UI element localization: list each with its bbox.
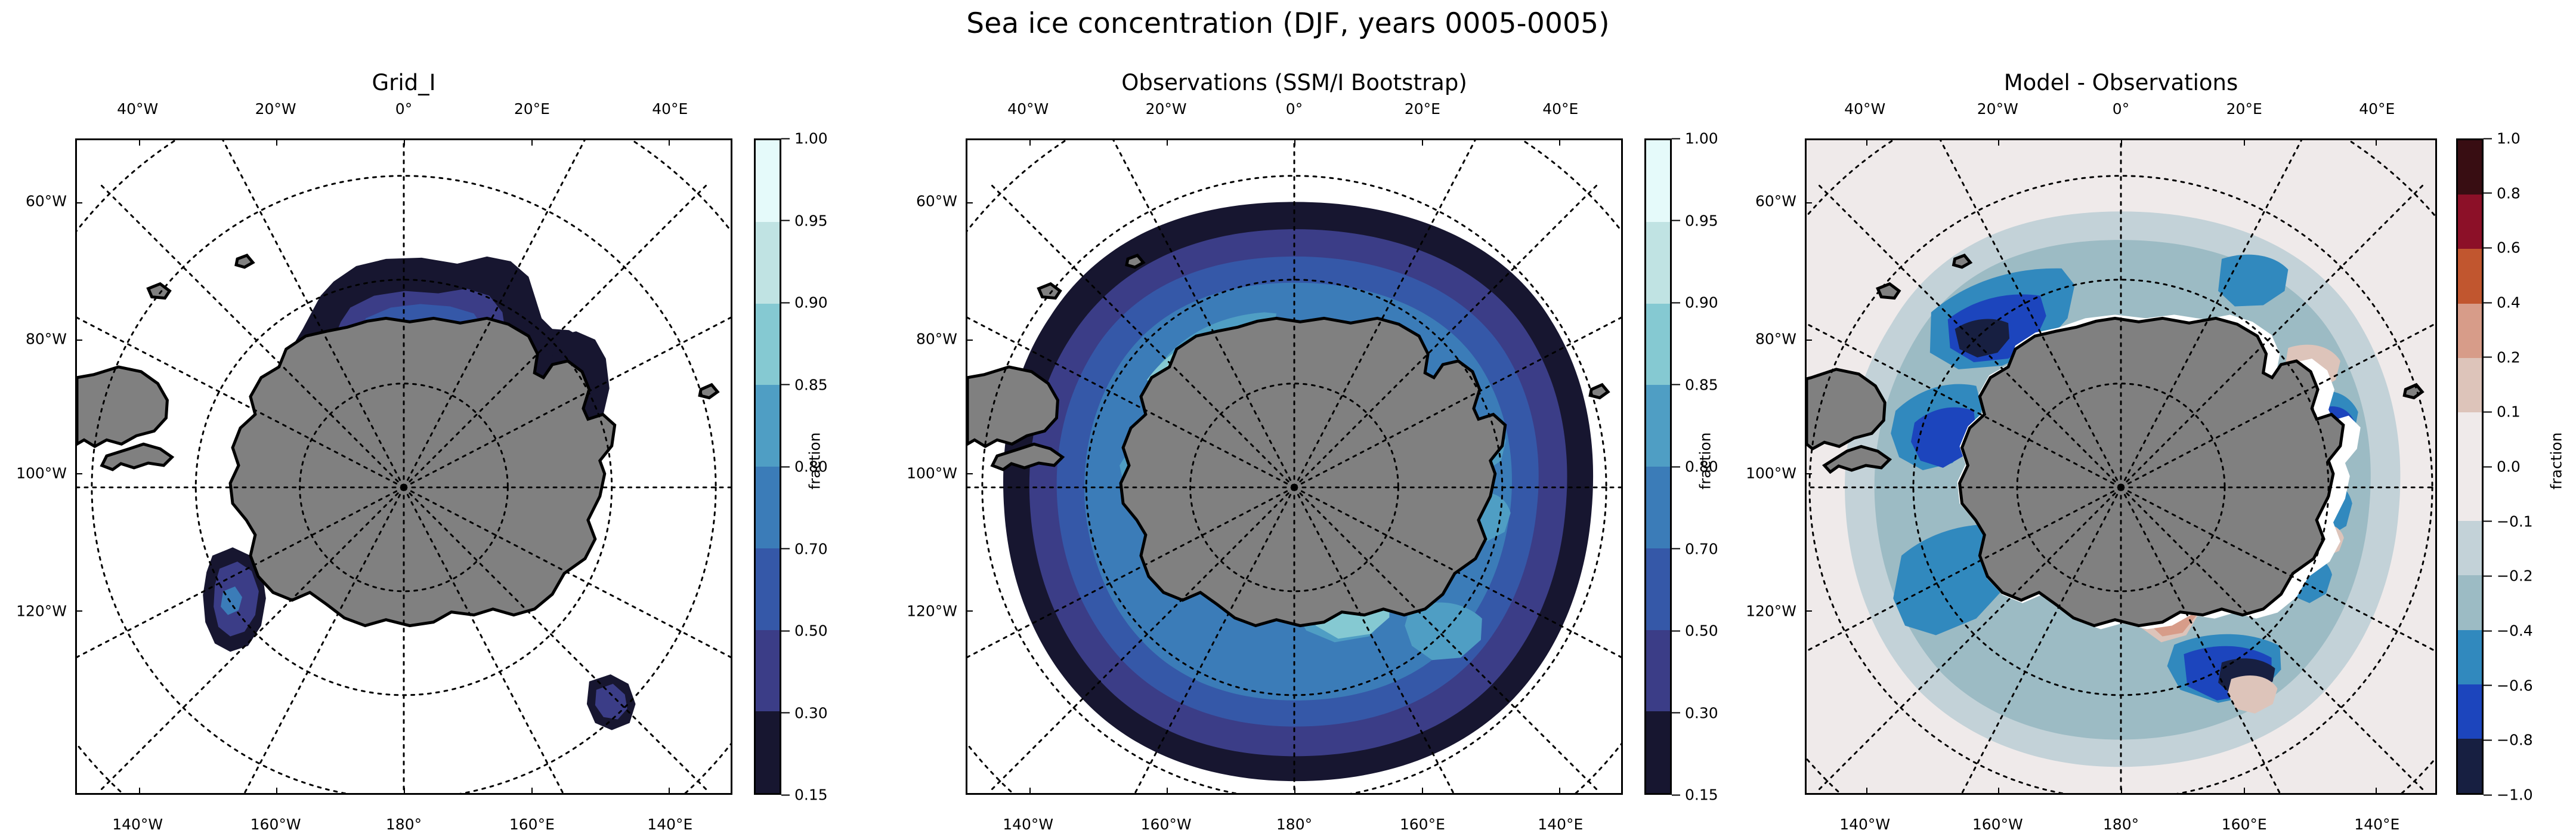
colorbar-difference-tick: 0.2 [2484, 350, 2521, 365]
tick-left-3: 120°W [907, 604, 957, 619]
tick-mark-left [967, 473, 973, 474]
colorbar-difference-tick: 0.6 [2484, 240, 2521, 255]
colorbar-difference-tick: −0.8 [2484, 733, 2533, 748]
tick-mark-bottom [1866, 788, 1867, 793]
tick-mark-bottom [1167, 788, 1168, 793]
tick-bottom-4: 140°E [2354, 817, 2399, 832]
colorbar-concentration-tick: 0.95 [1672, 213, 1718, 228]
colorbar-difference-tick: 0.4 [2484, 295, 2521, 310]
tick-mark-left [967, 340, 973, 341]
tick-bottom-3: 160°E [1400, 817, 1445, 832]
tick-mark-left [1807, 610, 1812, 612]
tick-top-2: 0° [395, 101, 412, 116]
tick-mark-top [404, 140, 405, 146]
colorbar-difference-segment [2458, 684, 2482, 739]
tick-mark-left [77, 610, 82, 612]
colorbar-difference-segment [2458, 304, 2482, 359]
panel-title-observations: Observations (SSM/I Bootstrap) [966, 72, 1623, 94]
colorbar-difference [2456, 138, 2484, 795]
colorbar-concentration-segment [1646, 711, 1670, 794]
tick-left-2: 100°W [907, 466, 957, 481]
tick-bottom-4: 140°E [1538, 817, 1583, 832]
colorbar-difference-segment [2458, 739, 2482, 794]
tick-mark-top [1294, 140, 1295, 146]
tick-top-1: 20°W [1146, 101, 1187, 116]
colorbar-difference-segment [2458, 249, 2482, 304]
tick-mark-left [77, 473, 82, 474]
colorbar-concentration-segment [1646, 385, 1670, 467]
tick-mark-top [2376, 140, 2377, 146]
tick-left-0: 60°W [1755, 193, 1796, 208]
colorbar-concentration-tick: 0.30 [781, 705, 828, 720]
colorbar-concentration-segment [756, 304, 780, 386]
tick-bottom-2: 180° [2103, 817, 2139, 832]
tick-mark-left [1807, 473, 1812, 474]
colorbar-difference-tick: 0.8 [2484, 186, 2521, 200]
colorbar-label-2: fraction [1698, 432, 1713, 489]
tick-mark-top [1422, 140, 1423, 146]
tick-left-3: 120°W [1746, 604, 1796, 619]
tick-mark-top [2121, 140, 2122, 146]
panel-model: Grid_I 40°W 20°W 0° 20°E 40°E 140°W 160°… [75, 138, 732, 795]
tick-mark-bottom [1029, 788, 1031, 793]
tick-top-0: 40°W [117, 101, 158, 116]
colorbar-concentration-segment [1646, 304, 1670, 386]
panel-title-model: Grid_I [75, 72, 732, 94]
tick-bottom-1: 160°W [1972, 817, 2023, 832]
tick-bottom-3: 160°E [509, 817, 555, 832]
colorbar-concentration-segment [756, 630, 780, 712]
colorbar-difference-tick: −0.1 [2484, 514, 2533, 529]
tick-left-1: 80°W [1755, 331, 1796, 346]
colorbar-concentration-tick: 0.95 [781, 213, 828, 228]
tick-bottom-0: 140°W [112, 817, 163, 832]
colorbar-difference-segment [2458, 358, 2482, 413]
tick-top-0: 40°W [1007, 101, 1049, 116]
tick-mark-bottom [2376, 788, 2377, 793]
colorbar-difference-label: fraction [2549, 432, 2564, 489]
tick-mark-top [669, 140, 670, 146]
tick-mark-left [967, 202, 973, 203]
map-canvas-difference [1807, 140, 2435, 793]
panel-difference: Model - Observations 40°W 20°W 0° 20°E 4… [1805, 138, 2437, 795]
map-axes-model [75, 138, 732, 795]
colorbar-concentration-segment [1646, 467, 1670, 549]
colorbar-concentration-tick: 0.85 [1672, 377, 1718, 392]
colorbar-concentration-tick: 0.70 [781, 541, 828, 556]
tick-left-0: 60°W [26, 193, 67, 208]
tick-mark-top [1029, 140, 1031, 146]
tick-mark-left [77, 340, 82, 341]
colorbar-concentration-segment [756, 222, 780, 304]
tick-mark-bottom [2121, 788, 2122, 793]
colorbar-concentration-tick: 0.50 [1672, 624, 1718, 638]
tick-left-0: 60°W [916, 193, 957, 208]
tick-mark-left [1807, 340, 1812, 341]
tick-top-4: 40°E [1542, 101, 1578, 116]
colorbar-difference-tick: 1.0 [2484, 131, 2521, 146]
tick-mark-top [276, 140, 277, 146]
tick-top-2: 0° [2113, 101, 2129, 116]
tick-mark-bottom [276, 788, 277, 793]
colorbar-concentration-tick: 0.15 [1672, 788, 1718, 803]
colorbar-concentration-segment [1646, 140, 1670, 223]
colorbar-concentration-tick: 1.00 [781, 131, 828, 146]
tick-bottom-2: 180° [386, 817, 422, 832]
map-axes-observations [966, 138, 1623, 795]
colorbar-difference-segment [2458, 195, 2482, 249]
tick-left-1: 80°W [916, 331, 957, 346]
tick-bottom-0: 140°W [1003, 817, 1053, 832]
tick-mark-bottom [2244, 788, 2245, 793]
colorbar-concentration-tick: 0.50 [781, 624, 828, 638]
tick-top-4: 40°E [2359, 101, 2395, 116]
colorbar-difference-segment [2458, 467, 2482, 522]
colorbar-difference-tick: −0.2 [2484, 569, 2533, 584]
tick-mark-top [1866, 140, 1867, 146]
colorbar-concentration-segment [756, 548, 780, 631]
tick-mark-top [1559, 140, 1560, 146]
map-canvas-observations [967, 140, 1621, 793]
tick-mark-left [1807, 202, 1812, 203]
figure-title: Sea ice concentration (DJF, years 0005-0… [0, 0, 2576, 38]
tick-mark-bottom [1294, 788, 1295, 793]
tick-left-2: 100°W [16, 466, 67, 481]
tick-mark-bottom [531, 788, 533, 793]
colorbar-difference-tick: 0.1 [2484, 405, 2521, 419]
colorbar-concentration-tick: 0.30 [1672, 705, 1718, 720]
tick-mark-top [1167, 140, 1168, 146]
tick-mark-left [967, 610, 973, 612]
tick-mark-bottom [1422, 788, 1423, 793]
colorbar-concentration-segment [1646, 548, 1670, 631]
tick-mark-bottom [1559, 788, 1560, 793]
colorbar-difference-tick: 0.0 [2484, 459, 2521, 474]
colorbar-concentration-tick: 0.70 [1672, 541, 1718, 556]
tick-bottom-2: 180° [1276, 817, 1312, 832]
colorbar-difference-segment [2458, 140, 2482, 195]
map-axes-difference [1805, 138, 2437, 795]
colorbar-difference-segment [2458, 630, 2482, 685]
tick-mark-top [1998, 140, 1999, 146]
tick-mark-bottom [669, 788, 670, 793]
land-mass [230, 318, 615, 625]
tick-bottom-4: 140°E [647, 817, 692, 832]
tick-top-2: 0° [1286, 101, 1303, 116]
tick-mark-left [77, 202, 82, 203]
colorbar-concentration-1 [754, 138, 781, 795]
colorbar-difference-segment [2458, 575, 2482, 630]
tick-top-1: 20°W [255, 101, 296, 116]
land-mass [1121, 318, 1505, 625]
tick-top-1: 20°W [1977, 101, 2018, 116]
colorbar-difference-segment [2458, 521, 2482, 576]
colorbar-concentration-2 [1644, 138, 1672, 795]
colorbar-concentration-tick: 1.00 [1672, 131, 1718, 146]
colorbar-concentration-tick: 0.90 [1672, 295, 1718, 310]
colorbar-concentration-tick: 0.15 [781, 788, 828, 803]
tick-mark-top [531, 140, 533, 146]
colorbar-concentration-tick: 0.90 [781, 295, 828, 310]
colorbar-concentration-segment [1646, 222, 1670, 304]
colorbar-concentration-segment [1646, 630, 1670, 712]
colorbar-concentration-segment [756, 711, 780, 794]
tick-left-1: 80°W [26, 331, 67, 346]
tick-bottom-0: 140°W [1839, 817, 1890, 832]
tick-left-3: 120°W [16, 604, 67, 619]
tick-top-3: 20°E [2226, 101, 2262, 116]
colorbar-concentration-tick: 0.85 [781, 377, 828, 392]
tick-bottom-1: 160°W [1141, 817, 1192, 832]
tick-top-3: 20°E [514, 101, 550, 116]
tick-mark-bottom [139, 788, 140, 793]
tick-mark-bottom [1998, 788, 1999, 793]
colorbar-difference-tick: −0.4 [2484, 624, 2533, 638]
colorbar-difference-tick: −1.0 [2484, 788, 2533, 803]
colorbar-concentration-segment [756, 140, 780, 223]
tick-top-0: 40°W [1844, 101, 1885, 116]
colorbar-label-1: fraction [808, 432, 822, 489]
tick-bottom-1: 160°W [251, 817, 301, 832]
panel-observations: Observations (SSM/I Bootstrap) 40°W 20°W… [966, 138, 1623, 795]
tick-mark-top [139, 140, 140, 146]
tick-top-4: 40°E [652, 101, 688, 116]
map-canvas-model [77, 140, 731, 793]
panel-title-difference: Model - Observations [1805, 72, 2437, 94]
colorbar-difference-segment [2458, 412, 2482, 467]
tick-mark-top [2244, 140, 2245, 146]
tick-mark-bottom [404, 788, 405, 793]
colorbar-difference-tick: −0.6 [2484, 678, 2533, 693]
colorbar-concentration-segment [756, 467, 780, 549]
tick-bottom-3: 160°E [2222, 817, 2267, 832]
tick-top-3: 20°E [1405, 101, 1440, 116]
tick-left-2: 100°W [1746, 466, 1796, 481]
colorbar-concentration-segment [756, 385, 780, 467]
